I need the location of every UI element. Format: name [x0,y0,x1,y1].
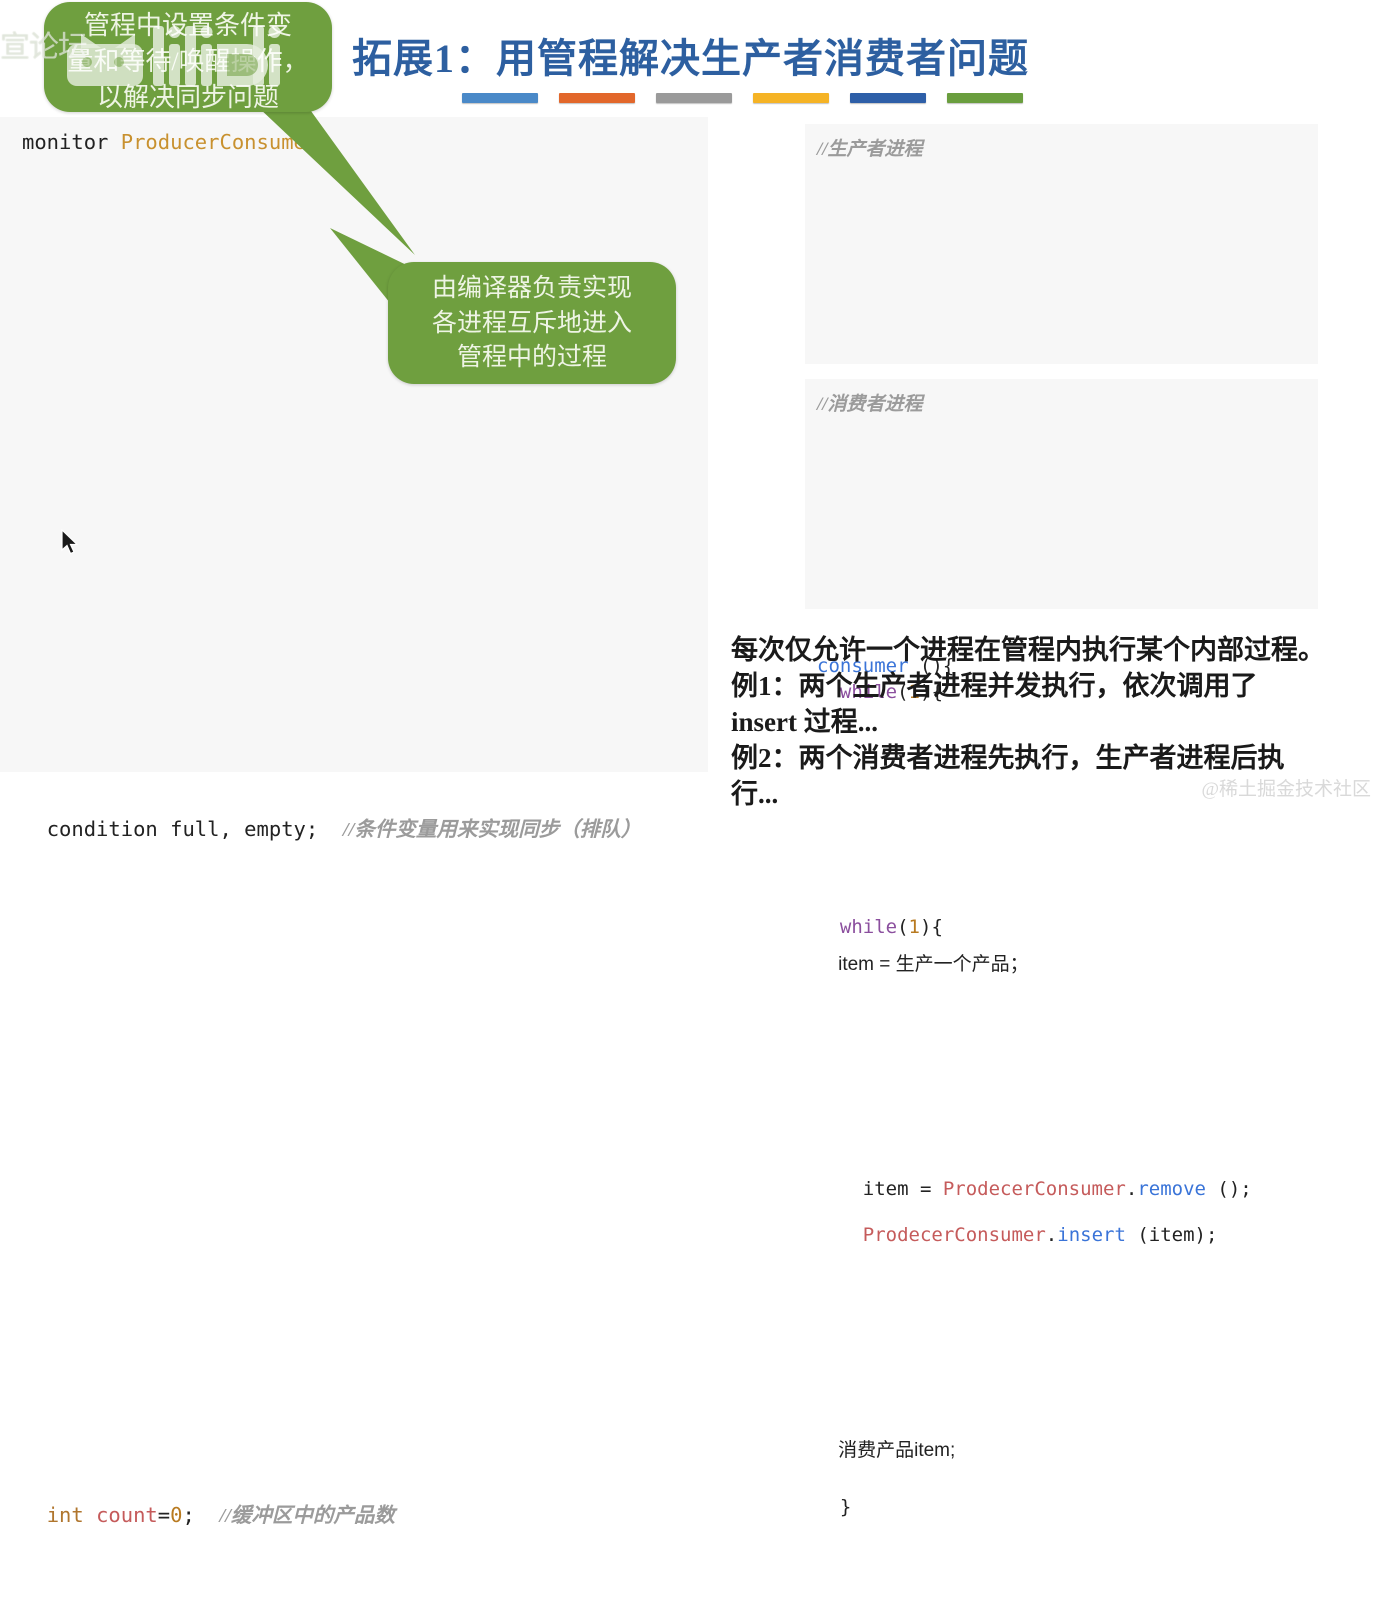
code-token: ; [182,1503,219,1527]
code-token: (); [1206,1178,1252,1200]
title-rule-segment-6 [947,93,1023,103]
page-title: 拓展1：用管程解决生产者消费者问题 [352,26,1029,84]
code-token: //消费者进程 [817,394,923,415]
code-token: //条件变量用来实现同步（排队） [343,819,641,841]
code-token: monitor [22,130,121,154]
code-line: while(1){ [817,912,1318,1142]
consumer-code-block: //消费者进程 consumer (){ while(1){ item = Pr… [805,379,1318,609]
code-token: condition [47,817,158,841]
code-line: //消费者进程 [817,389,1318,619]
title-rule-segment-2 [559,93,635,103]
code-line: int count=0; //缓冲区中的产品数 [22,1500,708,1620]
code-token: //缓冲区中的产品数 [220,1505,395,1527]
code-line: //生产者进程 [817,134,1318,374]
explanation-line-1: 每次仅允许一个进程在管程内执行某个内部过程。 [731,632,1381,668]
code-token [22,817,47,841]
callout-1-line-3: 以解决同步问题 [54,80,322,116]
explanation-line-3: insert 过程... [731,704,1381,740]
title-rule-segment-4 [753,93,829,103]
code-token: int [47,1503,84,1527]
callout-2-line-1: 由编译器负责实现 [400,272,664,307]
title-rule-segment-3 [656,93,732,103]
callout-2-line-3: 管程中的过程 [400,341,664,376]
code-line: 消费产品item; [817,1435,1318,1620]
code-token: full, empty; [158,817,343,841]
title-underline-rule [462,93,1023,103]
producer-code-block: //生产者进程 producer (){ while(1){ item = 生产… [805,124,1318,364]
callout-bubble-compiler-mutex: 由编译器负责实现 各进程互斥地进入 管程中的过程 [388,262,676,384]
code-token: ProdecerConsumer [943,1178,1126,1200]
code-token: ( [897,916,908,938]
callout-bubble-condition-variables: 管程中设置条件变 量和等待/唤醒操作， 以解决同步问题 [44,2,332,112]
title-rule-segment-5 [850,93,926,103]
code-line: item = ProdecerConsumer.remove (); [817,1174,1318,1404]
code-token: 消费产品item; [817,1440,955,1461]
code-token [84,1503,96,1527]
code-line: condition full, empty; //条件变量用来实现同步（排队） [22,814,708,1469]
code-token: 1 [909,916,920,938]
juejin-watermark: @稀土掘金技术社区 [1202,774,1372,801]
code-token: count [96,1503,158,1527]
code-token: remove [1137,1178,1206,1200]
code-token: ){ [920,916,943,938]
code-token [817,916,840,938]
code-token: while [840,916,897,938]
title-rule-segment-1 [462,93,538,103]
code-token: . [1126,1178,1137,1200]
code-token: //生产者进程 [817,139,923,160]
code-token: 0 [170,1503,182,1527]
code-token: = [158,1503,170,1527]
explanation-line-4: 例2：两个消费者进程先执行，生产者进程后执 [731,740,1381,776]
callout-1-line-2: 量和等待/唤醒操作， [54,44,322,80]
code-token: item = [817,1178,943,1200]
code-token [22,1503,47,1527]
callout-1-line-1: 管程中设置条件变 [54,8,322,44]
callout-2-line-2: 各进程互斥地进入 [400,307,664,342]
explanation-line-2: 例1：两个生产者进程并发执行，依次调用了 [731,668,1381,704]
